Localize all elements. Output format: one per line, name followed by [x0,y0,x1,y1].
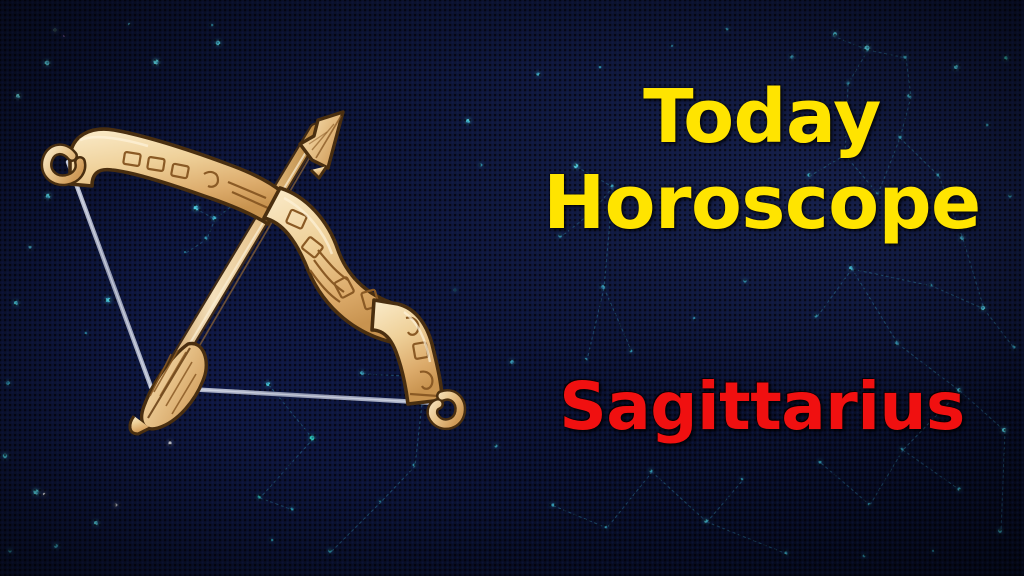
bow-and-arrow-illustration [28,100,498,460]
upper-bow-limb [70,129,282,224]
title-line-today: Today [500,82,1024,152]
page-title: Today Horoscope [500,82,1024,239]
upper-tip-spiral [47,149,81,180]
zodiac-sign-name: Sagittarius [559,374,965,440]
horoscope-poster: Today Horoscope Sagittarius [0,0,1024,576]
title-line-horoscope: Horoscope [500,168,1024,238]
lower-tip-spiral [432,395,460,424]
arrowhead [300,112,343,178]
lower-bow-limb [372,300,442,404]
text-column: Today Horoscope Sagittarius [500,0,1024,576]
zodiac-sign-block: Sagittarius [500,374,1024,440]
